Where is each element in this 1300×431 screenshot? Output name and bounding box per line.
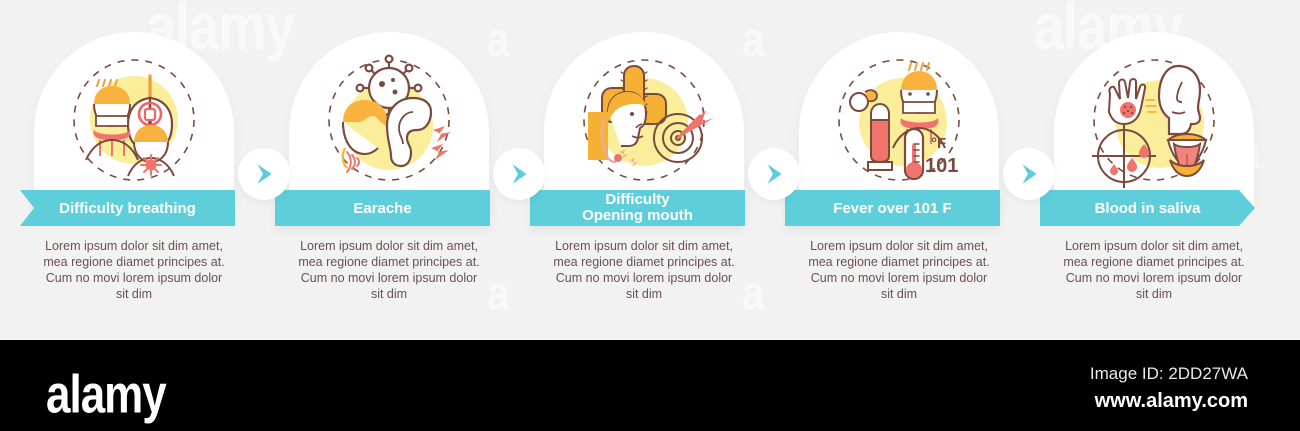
ear-virus-icon: [305, 48, 473, 198]
step-4-label: Fever over 101 F: [827, 201, 957, 216]
fever-value-label: 101: [925, 155, 958, 177]
step-3-label: Difficulty Opening mouth: [576, 192, 699, 224]
chevron-right-icon-1[interactable]: [238, 148, 290, 200]
step-5-banner[interactable]: Blood in saliva: [1040, 190, 1255, 226]
fever-unit-label: °F: [931, 135, 946, 152]
step-1-description: Lorem ipsum dolor sit dim amet, mea regi…: [38, 238, 230, 302]
step-2-description: Lorem ipsum dolor sit dim amet, mea regi…: [293, 238, 485, 302]
chevron-right-glyph: [506, 161, 532, 187]
step-1-banner[interactable]: Difficulty breathing: [20, 190, 235, 226]
step-5[interactable]: Blood in saliva Lorem ipsum dolor sit di…: [1028, 0, 1280, 340]
infographic-board: alamy a a alamy a a a: [0, 0, 1300, 340]
step-3-description: Lorem ipsum dolor sit dim amet, mea regi…: [548, 238, 740, 302]
step-1[interactable]: Difficulty breathing Lorem ipsum dolor s…: [8, 0, 260, 340]
thermometer-fever-icon: °F 101: [815, 48, 983, 198]
infographic-stage: alamy a a alamy a a a: [0, 0, 1300, 431]
alamy-footer-bar: alamy Image ID: 2DD27WA www.alamy.com: [0, 340, 1300, 431]
chevron-right-glyph: [251, 161, 277, 187]
step-2-banner[interactable]: Earache: [275, 190, 490, 226]
step-4-banner[interactable]: Fever over 101 F: [785, 190, 1000, 226]
image-id-label: Image ID: 2DD27WA: [1090, 364, 1248, 384]
alamy-url-label: www.alamy.com: [1095, 390, 1248, 413]
tongue-blood-icon: [1070, 48, 1238, 198]
step-4-description: Lorem ipsum dolor sit dim amet, mea regi…: [803, 238, 995, 302]
step-4[interactable]: °F 101 Fever over 101 F Lorem ipsum dolo…: [773, 0, 1025, 340]
step-5-description: Lorem ipsum dolor sit dim amet, mea regi…: [1058, 238, 1250, 302]
chevron-right-glyph: [761, 161, 787, 187]
cactus-mouth-pain-icon: [560, 48, 728, 198]
step-2-label: Earache: [347, 201, 417, 216]
alamy-logo: alamy: [46, 365, 166, 426]
chevron-right-glyph: [1016, 161, 1042, 187]
step-1-label: Difficulty breathing: [53, 201, 202, 216]
chevron-right-icon-2[interactable]: [493, 148, 545, 200]
lungs-breathing-icon: [50, 48, 218, 198]
chevron-right-icon-4[interactable]: [1003, 148, 1055, 200]
step-3-banner[interactable]: Difficulty Opening mouth: [530, 190, 745, 226]
step-3[interactable]: Difficulty Opening mouth Lorem ipsum dol…: [518, 0, 770, 340]
step-5-label: Blood in saliva: [1089, 201, 1207, 216]
step-2[interactable]: Earache Lorem ipsum dolor sit dim amet, …: [263, 0, 515, 340]
chevron-right-icon-3[interactable]: [748, 148, 800, 200]
